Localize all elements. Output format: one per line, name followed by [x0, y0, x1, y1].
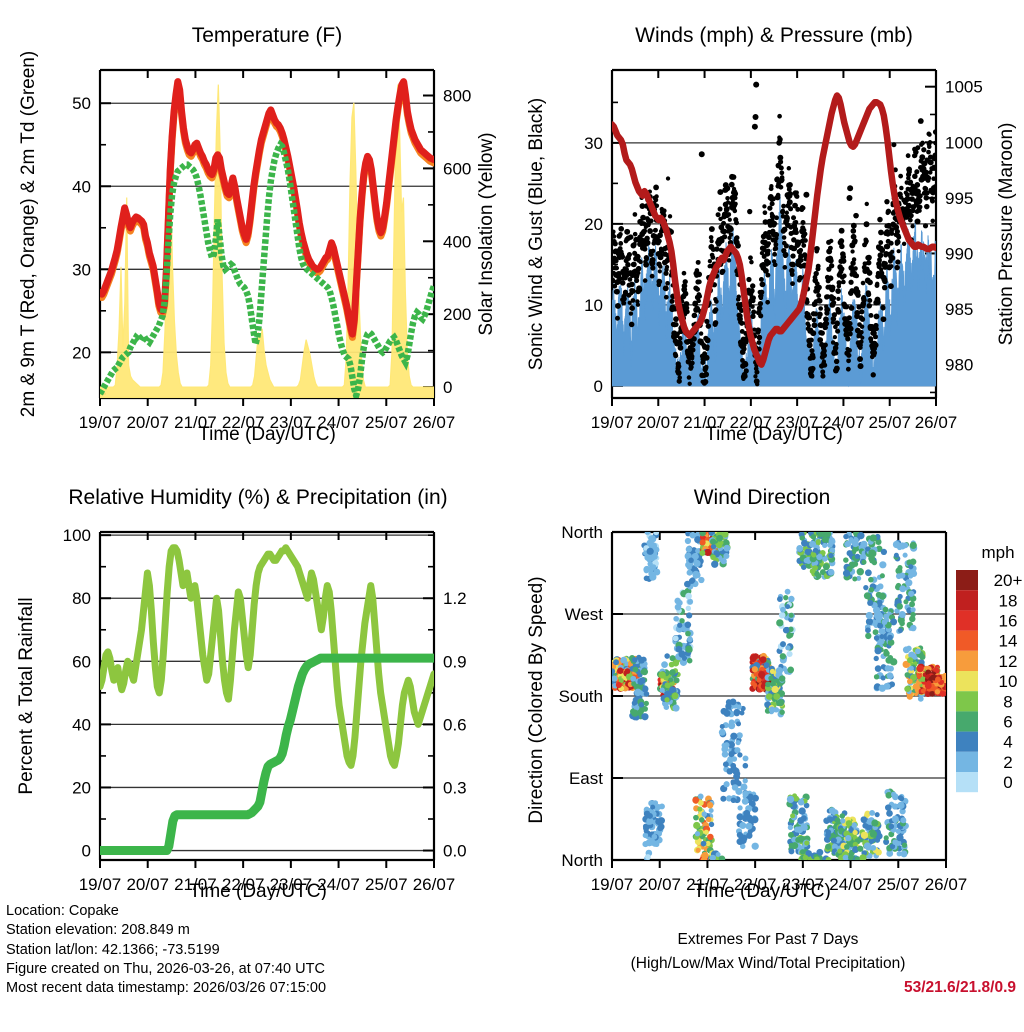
gust-point: [798, 248, 803, 253]
gust-point: [918, 205, 923, 210]
gust-point: [683, 279, 688, 284]
y-tick-label: 0: [82, 842, 91, 861]
wind-direction-point: [796, 545, 803, 552]
wind-direction-point: [874, 674, 879, 679]
wind-direction-point: [847, 550, 853, 556]
gust-point: [873, 334, 878, 339]
gust-point: [699, 331, 703, 335]
colorbar-tick-label: 14: [999, 632, 1018, 651]
wind-direction-point: [644, 701, 649, 706]
gust-point: [817, 298, 823, 304]
wind-direction-point: [724, 742, 730, 748]
wind-direction-point: [919, 654, 925, 660]
gust-point: [765, 260, 771, 266]
gust-point: [732, 191, 738, 197]
wind-direction-point: [883, 649, 888, 654]
x-tick-label: 20/07: [126, 875, 169, 894]
gust-point: [782, 265, 787, 270]
gust-point: [840, 267, 845, 272]
colorbar-band: [956, 631, 978, 651]
wind-direction-point: [732, 784, 738, 790]
wind-direction-point: [787, 651, 793, 657]
gust-point: [642, 246, 647, 251]
gust-point: [704, 355, 710, 361]
wind-direction-point: [899, 585, 906, 592]
wind-direction-point: [910, 612, 915, 617]
wind-direction-point: [737, 832, 743, 838]
wind-direction-point: [697, 807, 702, 812]
gust-point: [842, 274, 847, 279]
wind-direction-point: [776, 619, 783, 626]
x-tick-label: 19/07: [79, 875, 122, 894]
gust-point: [755, 382, 759, 386]
gust-point: [676, 370, 682, 376]
y2-tick-label: 1.2: [443, 589, 467, 608]
y2-tick-label: 990: [945, 244, 973, 263]
wind-direction-point: [907, 657, 913, 663]
wind-direction-point: [743, 791, 749, 797]
gust-point: [766, 249, 771, 254]
gust-point: [618, 232, 623, 237]
colorbar-tick-label: 4: [1003, 733, 1012, 752]
gust-point: [709, 226, 715, 232]
y-tick-label: 20: [584, 215, 603, 234]
wind-direction-point: [643, 833, 649, 839]
wind-direction-point: [788, 825, 793, 830]
wind-direction-point: [826, 857, 832, 863]
wind-direction-point: [864, 842, 871, 849]
wind-direction-point: [736, 838, 743, 845]
wind-direction-point: [665, 682, 671, 688]
wind-direction-point: [891, 792, 896, 797]
gust-point: [713, 320, 718, 325]
gust-point: [832, 296, 837, 301]
gust-point: [899, 186, 903, 190]
wind-direction-point: [688, 558, 694, 564]
colorbar-tick-label: 8: [1003, 692, 1012, 711]
wind-direction-point: [779, 612, 786, 619]
wind-direction-point: [910, 542, 917, 549]
wind-direction-point: [910, 559, 916, 565]
gust-point: [629, 282, 635, 288]
wind-direction-point: [857, 846, 863, 852]
y-tick-label: South: [559, 687, 603, 706]
gust-point: [828, 246, 833, 251]
gust-point: [801, 206, 806, 211]
wind-direction-point: [843, 855, 849, 861]
wind-direction-point: [660, 688, 665, 693]
gust-point: [687, 375, 692, 380]
wind-direction-point: [661, 661, 668, 668]
gust-point: [857, 356, 863, 362]
gust-point: [925, 175, 931, 181]
gust-point: [649, 219, 654, 224]
gust-point: [629, 305, 635, 311]
gust-point: [931, 176, 936, 181]
gust-point: [817, 337, 823, 343]
gust-point: [757, 335, 763, 341]
gust-point: [834, 366, 840, 372]
wind-direction-point: [879, 561, 886, 568]
gust-point: [795, 194, 800, 199]
gust-point: [910, 224, 914, 228]
gust-point: [846, 353, 851, 358]
colorbar-unit-label: mph: [981, 543, 1014, 562]
wind-direction-point: [736, 721, 741, 726]
gust-point: [729, 232, 734, 237]
wind-direction-point: [632, 700, 637, 705]
gust-outlier-point: [752, 124, 758, 130]
gust-point: [837, 280, 842, 285]
wind-direction-point: [870, 845, 876, 851]
wind-direction-point: [881, 675, 886, 680]
gust-point: [674, 322, 679, 327]
wind-direction-point: [743, 778, 748, 783]
gust-point: [895, 229, 900, 234]
wind-direction-point: [742, 798, 749, 805]
wind-direction-point: [620, 657, 627, 664]
station-metadata: Location: Copake Station elevation: 208.…: [0, 896, 518, 1030]
wind-direction-point: [644, 576, 650, 582]
gust-point: [733, 202, 738, 207]
gust-point: [882, 279, 888, 285]
x-tick-label: 20/07: [637, 413, 680, 432]
wind-direction-point: [862, 823, 868, 829]
gust-point: [884, 199, 889, 204]
wind-direction-point: [645, 854, 651, 860]
wind-direction-point: [907, 694, 913, 700]
wind-direction-point: [874, 647, 881, 654]
wind-direction-point: [685, 593, 692, 600]
gust-point: [778, 159, 783, 164]
wind-direction-point: [868, 577, 874, 583]
gust-point: [871, 372, 876, 377]
gust-point: [704, 365, 708, 369]
colorbar-band: [956, 671, 978, 691]
wind-direction-point: [732, 768, 739, 775]
gust-point: [860, 324, 865, 329]
wind-direction-point: [848, 855, 854, 861]
gust-point: [848, 326, 854, 332]
gust-point: [889, 264, 893, 268]
wind-direction-point: [866, 612, 873, 619]
gust-point: [800, 220, 805, 225]
gust-point: [924, 204, 930, 210]
colorbar-band: [956, 711, 978, 731]
gust-point: [678, 336, 683, 341]
gust-point: [664, 295, 669, 300]
gust-point: [882, 285, 888, 291]
gust-point: [633, 232, 638, 237]
colorbar-band: [956, 610, 978, 630]
gust-point: [871, 350, 877, 356]
wind-direction-point: [768, 676, 773, 681]
gust-outlier-point: [847, 185, 853, 191]
gust-point: [807, 315, 812, 320]
wind-direction-point: [852, 561, 858, 567]
wind-direction-point: [896, 603, 902, 609]
gust-point: [765, 300, 770, 305]
gust-point: [653, 228, 658, 233]
wind-direction-point: [664, 653, 670, 659]
wind-direction-point: [642, 841, 648, 847]
gust-point: [897, 249, 901, 253]
wind-direction-point: [788, 848, 794, 854]
wind-direction-point: [865, 627, 871, 633]
gust-point: [902, 242, 906, 246]
gust-point: [757, 340, 762, 345]
gust-point: [835, 329, 840, 334]
wind-direction-point: [686, 546, 692, 552]
gust-outlier-point: [753, 82, 759, 88]
wind-direction-point: [790, 813, 795, 818]
wind-direction-point: [844, 541, 850, 547]
wind-direction-point: [883, 607, 889, 613]
wind-direction-point: [900, 817, 906, 823]
wind-direction-point: [828, 569, 835, 576]
wind-direction-point: [693, 573, 699, 579]
wind-direction-point: [780, 641, 786, 647]
wind-direction-point: [677, 623, 682, 628]
colorbar-tick-label: 0: [1003, 773, 1012, 792]
gust-point: [859, 309, 864, 314]
wind-direction-point: [653, 569, 660, 576]
gust-point: [848, 280, 853, 285]
wind-direction-point: [823, 563, 830, 570]
gust-point: [824, 321, 829, 326]
gust-point: [716, 212, 721, 217]
x-tick-label: 22/07: [730, 413, 773, 432]
wind-direction-point: [692, 797, 699, 804]
winds-plot-area: 19/0720/0721/0722/0723/0724/0725/0726/07…: [584, 70, 983, 432]
y-tick-label: 50: [72, 94, 91, 113]
y-tick-label: North: [561, 851, 603, 870]
wind-direction-point: [789, 843, 794, 848]
wind-direction-point: [773, 693, 780, 700]
wind-direction-point: [737, 805, 742, 810]
x-tick-label: 24/07: [317, 875, 360, 894]
gust-point: [665, 265, 669, 269]
y-tick-label: 80: [72, 589, 91, 608]
colorbar-band: [956, 732, 978, 752]
gust-point: [830, 285, 836, 291]
wind-direction-point: [724, 710, 731, 717]
gust-point: [627, 252, 632, 257]
metadata-latlon: Station lat/lon: 42.1366; -73.5199: [6, 941, 518, 960]
gust-point: [770, 201, 775, 206]
gust-point: [839, 244, 845, 250]
gust-point: [735, 243, 741, 249]
gust-point: [908, 213, 913, 218]
wind-direction-point: [929, 691, 935, 697]
winds-y-axis-label: Sonic Wind & Gust (Blue, Black): [526, 98, 547, 370]
gust-point: [758, 301, 763, 306]
gust-point: [847, 348, 852, 353]
y-tick-label: 100: [63, 526, 91, 545]
wind-direction-point: [879, 593, 886, 600]
wind-direction-point: [867, 600, 873, 606]
wind-direction-point: [779, 710, 784, 715]
wind-direction-point: [798, 807, 805, 814]
wind-direction-point: [632, 657, 638, 663]
gust-point: [708, 259, 712, 263]
gust-point: [620, 280, 626, 286]
gust-point: [650, 265, 655, 270]
wind-direction-point: [885, 792, 892, 799]
gust-point: [688, 382, 692, 386]
wind-direction-point: [822, 556, 828, 562]
gust-point: [760, 281, 766, 287]
wind-direction-point: [649, 535, 656, 542]
y2-tick-label: 0.9: [443, 652, 467, 671]
wind-direction-point: [795, 837, 801, 843]
wind-direction-point: [701, 841, 707, 847]
wind-direction-point: [786, 633, 792, 639]
wind-direction-point: [702, 811, 708, 817]
gust-point: [782, 235, 787, 240]
wind-direction-point: [899, 611, 906, 618]
wind-direction-point: [886, 810, 893, 817]
wind-direction-point: [869, 587, 874, 592]
wind-direction-point: [855, 554, 860, 559]
gust-point: [842, 255, 847, 260]
gust-point: [794, 230, 799, 235]
gust-point: [682, 271, 687, 276]
gust-point: [928, 140, 932, 144]
wind-direction-point: [649, 566, 654, 571]
wind-direction-point: [780, 653, 786, 659]
wind-direction-point: [892, 816, 899, 823]
gust-point: [867, 279, 873, 285]
extremes-summary: Extremes For Past 7 Days (High/Low/Max W…: [512, 920, 1024, 1032]
gust-point: [668, 214, 672, 218]
gust-point: [834, 342, 839, 347]
wind-direction-point: [877, 583, 883, 589]
colorbar-band: [956, 651, 978, 671]
gust-point: [731, 174, 737, 180]
gust-point: [779, 166, 783, 170]
gust-outlier-point: [846, 195, 852, 201]
wind-direction-point: [902, 542, 908, 548]
gust-point: [742, 374, 747, 379]
gust-point: [790, 281, 795, 286]
wind-direction-point: [676, 646, 683, 653]
wind-speed-colorbar: mph20+181614121086420: [956, 543, 1022, 792]
y-tick-label: 30: [584, 134, 603, 153]
gust-point: [638, 260, 642, 264]
wind-direction-point: [687, 636, 693, 642]
gust-point: [747, 209, 752, 214]
y2-tick-label: 980: [945, 356, 973, 375]
wind-direction-point: [780, 607, 786, 613]
wind-direction-point: [757, 678, 762, 683]
gust-point: [690, 361, 695, 366]
gust-point: [663, 285, 669, 291]
wind-direction-point: [696, 848, 701, 853]
gust-point: [924, 195, 930, 201]
gust-point: [629, 322, 635, 328]
y2-tick-label: 0.0: [443, 842, 467, 861]
gust-point: [875, 282, 879, 286]
gust-point: [653, 185, 659, 191]
metadata-location: Location: Copake: [6, 902, 518, 921]
humidity-series: [100, 548, 434, 851]
gust-point: [829, 239, 834, 244]
gust-point: [631, 298, 636, 303]
gust-point: [790, 262, 796, 268]
gust-point: [824, 307, 830, 313]
wind-direction-point: [743, 763, 749, 769]
x-tick-label: 25/07: [868, 413, 911, 432]
gust-point: [814, 246, 820, 252]
wind-direction-point: [777, 699, 784, 706]
wind-direction-point: [910, 570, 917, 577]
wind-direction-point: [739, 710, 744, 715]
y-tick-label: 20: [72, 778, 91, 797]
wind-direction-point: [617, 668, 623, 674]
wind-direction-point: [652, 554, 658, 560]
gust-point: [619, 254, 625, 260]
wind-direction-point: [669, 669, 675, 675]
gust-point: [818, 306, 823, 311]
wind-direction-point: [794, 827, 800, 833]
gust-point: [891, 142, 896, 147]
gust-point: [829, 263, 834, 268]
gust-point: [645, 240, 651, 246]
wind-direction-point: [765, 681, 771, 687]
y-tick-label: 30: [72, 260, 91, 279]
gust-point: [828, 275, 834, 281]
gust-point: [853, 213, 859, 219]
colorbar-band: [956, 590, 978, 610]
winddir-chart-svg: Wind Direction Direction (Colored By Spe…: [512, 460, 1024, 900]
gust-point: [647, 228, 653, 234]
wind-direction-point: [701, 857, 708, 864]
gust-point: [817, 312, 823, 318]
gust-point: [790, 253, 795, 258]
gust-point: [869, 313, 874, 318]
humidity-chart-title: Relative Humidity (%) & Precipitation (i…: [68, 486, 447, 509]
gust-point: [860, 317, 865, 322]
gust-point: [692, 313, 697, 318]
gust-point: [874, 314, 880, 320]
gust-point: [914, 169, 919, 174]
wind-direction-point: [630, 676, 636, 682]
wind-direction-point: [800, 849, 805, 854]
gust-point: [854, 273, 859, 278]
gust-point: [859, 330, 863, 334]
wind-direction-point: [840, 813, 845, 818]
gust-point: [705, 337, 711, 343]
wind-direction-point: [653, 530, 659, 536]
wind-direction-point: [831, 838, 837, 844]
wind-direction-point: [787, 796, 794, 803]
gust-point: [689, 365, 694, 370]
wind-direction-point: [674, 598, 680, 604]
wind-direction-point: [864, 592, 871, 599]
wind-direction-point: [846, 820, 853, 827]
gust-point: [787, 166, 791, 170]
wind-direction-point: [679, 618, 684, 623]
wind-direction-point: [699, 550, 705, 556]
y2-tick-label: 0: [443, 378, 452, 397]
wind-direction-point: [787, 667, 794, 674]
wind-direction-point: [940, 691, 946, 697]
gust-point: [845, 336, 850, 341]
x-tick-label: 26/07: [925, 875, 968, 894]
gust-point: [695, 287, 700, 292]
wind-direction-point: [647, 813, 653, 819]
